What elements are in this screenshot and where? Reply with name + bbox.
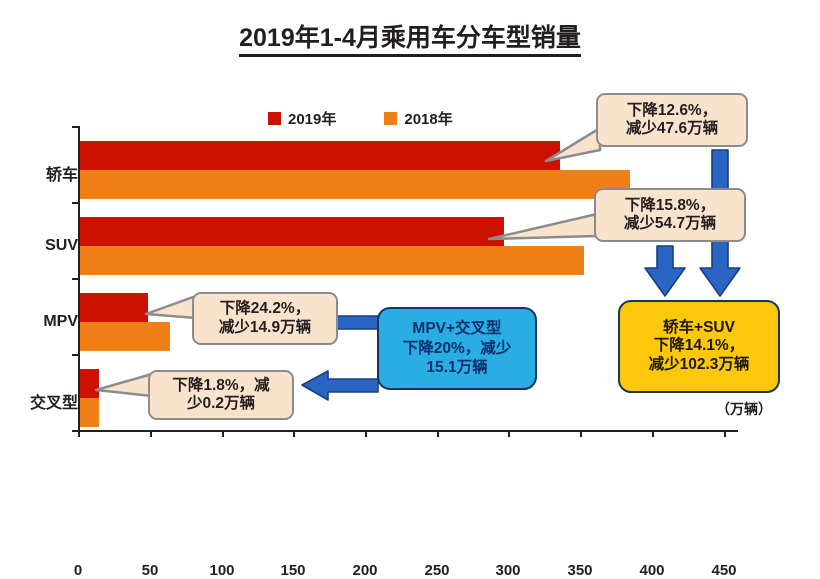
callout-mpv-line2: 减少14.9万辆 — [219, 319, 311, 337]
x-axis-line — [78, 430, 738, 432]
x-tick-label: 250 — [407, 562, 467, 579]
summary-blue-line3: 15.1万辆 — [426, 358, 487, 377]
category-label-mpv: MPV — [0, 313, 78, 331]
legend-swatch-2019 — [268, 112, 281, 125]
bar-sedan-2018 — [80, 170, 630, 199]
bar-suv-2019 — [80, 217, 504, 246]
category-label-sedan: 轿车 — [0, 161, 78, 185]
summary-box-sedan-suv: 轿车+SUV 下降14.1%， 减少102.3万辆 — [618, 300, 780, 393]
y-axis-tick — [72, 126, 79, 128]
summary-yellow-line3: 减少102.3万辆 — [649, 356, 750, 375]
bar-mpv-2018 — [80, 322, 170, 351]
bar-sedan-2019 — [80, 141, 560, 170]
unit-label: （万辆） — [716, 399, 772, 419]
summary-blue-line2: 下降20%，减少 — [403, 339, 512, 358]
x-tick-label: 150 — [263, 562, 323, 579]
category-label-cross: 交叉型 — [0, 389, 78, 413]
callout-cross: 下降1.8%，减 少0.2万辆 — [148, 370, 294, 420]
x-axis-tick — [652, 430, 654, 437]
bar-mpv-2019 — [80, 293, 148, 322]
x-axis-tick — [580, 430, 582, 437]
bar-suv-2018 — [80, 246, 584, 275]
callout-suv: 下降15.8%， 减少54.7万辆 — [594, 188, 746, 242]
callout-cross-line2: 少0.2万辆 — [187, 395, 255, 413]
callout-suv-line1: 下降15.8%， — [625, 197, 715, 215]
callout-sedan-line1: 下降12.6%， — [627, 102, 717, 120]
y-axis-tick — [72, 278, 79, 280]
x-axis-tick — [508, 430, 510, 437]
x-tick-label: 0 — [48, 562, 108, 579]
callout-suv-line2: 减少54.7万辆 — [624, 215, 716, 233]
x-tick-label: 300 — [478, 562, 538, 579]
summary-yellow-line2: 下降14.1%， — [654, 337, 744, 356]
callout-sedan-line2: 减少47.6万辆 — [626, 120, 718, 138]
x-axis-tick — [222, 430, 224, 437]
chart-title-text: 2019年1-4月乘用车分车型销量 — [239, 24, 581, 57]
summary-blue-line1: MPV+交叉型 — [412, 319, 501, 338]
category-label-suv: SUV — [0, 237, 78, 255]
summary-box-mpv-cross: MPV+交叉型 下降20%，减少 15.1万辆 — [377, 307, 537, 390]
chart-title: 2019年1-4月乘用车分车型销量 — [0, 18, 820, 54]
x-axis-tick — [78, 430, 80, 437]
chart-canvas: 2019年1-4月乘用车分车型销量 2019年 2018年 — [0, 0, 820, 466]
x-tick-label: 350 — [550, 562, 610, 579]
bar-cross-2019 — [80, 369, 99, 398]
x-axis-tick — [365, 430, 367, 437]
x-axis-tick — [437, 430, 439, 437]
callout-mpv-line1: 下降24.2%， — [220, 300, 310, 318]
x-axis-tick — [724, 430, 726, 437]
y-axis-tick — [72, 354, 79, 356]
x-tick-label: 400 — [622, 562, 682, 579]
x-axis-tick — [293, 430, 295, 437]
callout-sedan: 下降12.6%， 减少47.6万辆 — [596, 93, 748, 147]
x-axis-tick — [150, 430, 152, 437]
callout-mpv: 下降24.2%， 减少14.9万辆 — [192, 292, 338, 345]
y-axis-tick — [72, 202, 79, 204]
x-tick-label: 100 — [192, 562, 252, 579]
x-tick-label: 200 — [335, 562, 395, 579]
bar-cross-2018 — [80, 398, 99, 427]
x-tick-label: 50 — [120, 562, 180, 579]
summary-yellow-line1: 轿车+SUV — [663, 319, 735, 338]
legend-swatch-2018 — [384, 112, 397, 125]
x-tick-label: 450 — [694, 562, 754, 579]
callout-cross-line1: 下降1.8%，减 — [172, 377, 269, 395]
